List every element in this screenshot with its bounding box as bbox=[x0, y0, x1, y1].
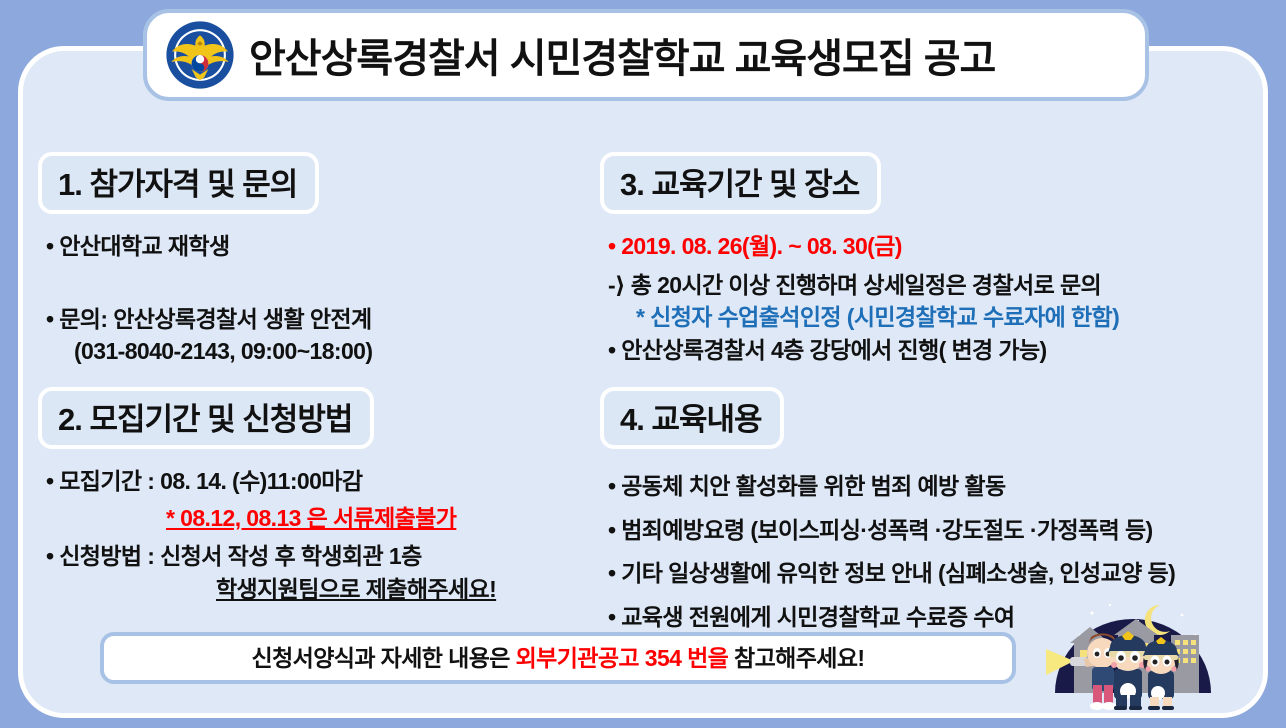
footer-suffix: 참고해주세요! bbox=[728, 645, 864, 671]
poster-header: 안산상록경찰서 시민경찰학교 교육생모집 공고 bbox=[143, 9, 1149, 101]
section-1-body: • 안산대학교 재학생 • 문의: 안산상록경찰서 생활 안전계 (031-80… bbox=[38, 230, 372, 368]
poster-root: 안산상록경찰서 시민경찰학교 교육생모집 공고 1. 참가자격 및 문의 • 안… bbox=[0, 0, 1286, 728]
night-patrol-illustration bbox=[1040, 583, 1226, 711]
section-3: 3. 교육기간 및 장소 • 2019. 08. 26(월). ~ 08. 30… bbox=[600, 152, 1119, 367]
section-2-line-3: • 신청방법 : 신청서 작성 후 학생회관 1층 bbox=[46, 540, 496, 573]
page-title: 안산상록경찰서 시민경찰학교 교육생모집 공고 bbox=[249, 26, 995, 84]
section-3-heading: 3. 교육기간 및 장소 bbox=[600, 152, 881, 214]
section-2: 2. 모집기간 및 신청방법 • 모집기간 : 08. 14. (수)11:00… bbox=[38, 387, 496, 606]
section-2-body: • 모집기간 : 08. 14. (수)11:00마감 * 08.12, 08.… bbox=[38, 465, 496, 606]
footer-prefix: 신청서양식과 자세한 내용은 bbox=[252, 645, 516, 671]
police-emblem-icon bbox=[165, 20, 235, 90]
section-1-line-3: (031-8040-2143, 09:00~18:00) bbox=[46, 335, 372, 368]
section-1-heading: 1. 참가자격 및 문의 bbox=[38, 152, 319, 214]
section-3-note: * 신청자 수업출석인정 (시민경찰학교 수료자에 한함) bbox=[608, 301, 1119, 334]
section-1: 1. 참가자격 및 문의 • 안산대학교 재학생 • 문의: 안산상록경찰서 생… bbox=[38, 152, 372, 368]
section-3-body: • 2019. 08. 26(월). ~ 08. 30(금) -⟩ 총 20시간… bbox=[600, 230, 1119, 367]
section-2-line-4: 학생지원팀으로 제출해주세요! bbox=[46, 573, 496, 606]
section-4-line-2: • 범죄예방요령 (보이스피싱·성폭력 ·강도절도 ·가정폭력 등) bbox=[608, 509, 1175, 553]
section-2-heading: 2. 모집기간 및 신청방법 bbox=[38, 387, 374, 449]
section-3-date: • 2019. 08. 26(월). ~ 08. 30(금) bbox=[608, 230, 1119, 263]
footer-highlight: 외부기관공고 354 번을 bbox=[516, 645, 729, 671]
footer-text: 신청서양식과 자세한 내용은 외부기관공고 354 번을 참고해주세요! bbox=[252, 642, 865, 675]
section-3-line-2: -⟩ 총 20시간 이상 진행하며 상세일정은 경찰서로 문의 bbox=[608, 269, 1119, 302]
section-1-line-2: • 문의: 안산상록경찰서 생활 안전계 bbox=[46, 303, 372, 336]
section-3-line-4: • 안산상록경찰서 4층 강당에서 진행( 변경 가능) bbox=[608, 334, 1119, 367]
section-2-line-1: • 모집기간 : 08. 14. (수)11:00마감 bbox=[46, 465, 496, 498]
footer-banner: 신청서양식과 자세한 내용은 외부기관공고 354 번을 참고해주세요! bbox=[100, 632, 1016, 684]
section-4-line-1: • 공동체 치안 활성화를 위한 범죄 예방 활동 bbox=[608, 465, 1175, 509]
section-4-heading: 4. 교육내용 bbox=[600, 387, 784, 449]
section-1-line-1: • 안산대학교 재학생 bbox=[46, 230, 372, 263]
section-2-warning: * 08.12, 08.13 은 서류제출불가 bbox=[46, 502, 496, 535]
